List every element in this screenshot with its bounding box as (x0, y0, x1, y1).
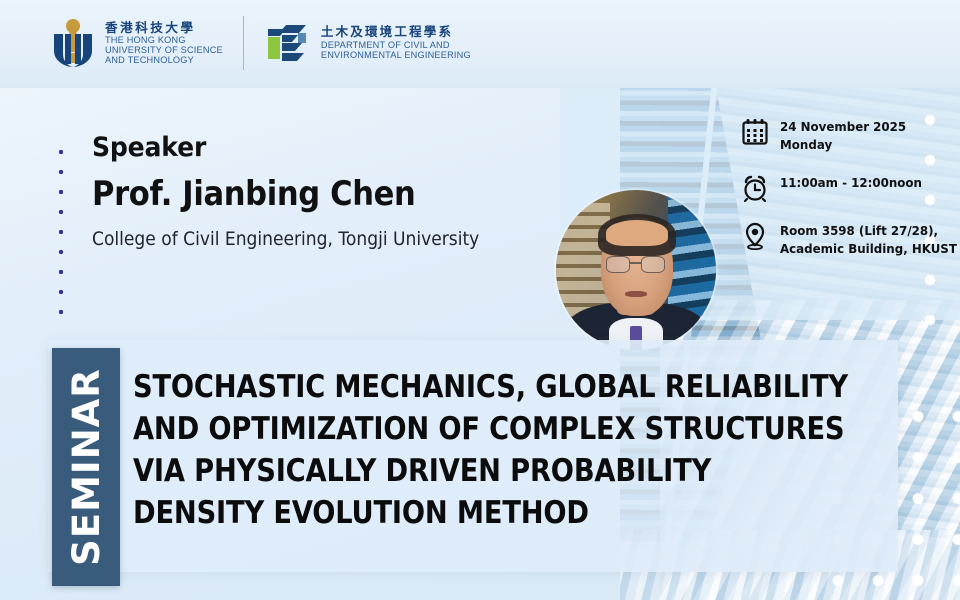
seminar-title: STOCHASTIC MECHANICS, GLOBAL RELIABILITY… (133, 366, 853, 535)
event-room: Room 3598 (Lift 27/28), (780, 222, 957, 240)
cee-wordmark: 土木及環境工程學系 DEPARTMENT OF CIVIL AND ENVIRO… (321, 25, 471, 60)
speaker-block: Speaker Prof. Jianbing Chen College of C… (92, 132, 562, 250)
hkust-crest-icon (52, 17, 94, 69)
title-line-1: STOCHASTIC MECHANICS, GLOBAL RELIABILITY (133, 366, 767, 408)
portrait-mouth (625, 291, 647, 297)
detail-text-time: 11:00am - 12:00noon (780, 174, 922, 192)
title-line-4: DENSITY EVOLUTION METHOD (133, 492, 767, 534)
hkust-name-en-3: AND TECHNOLOGY (105, 55, 223, 65)
cee-name-cn: 土木及環境工程學系 (321, 25, 471, 39)
location-pin-icon (742, 222, 768, 250)
detail-text-date: 24 November 2025 Monday (780, 118, 906, 154)
clock-icon (742, 174, 768, 202)
calendar-icon (742, 118, 768, 146)
detail-row-date: 24 November 2025 Monday (742, 118, 952, 154)
navy-dot-grid (48, 140, 78, 320)
event-details: 24 November 2025 Monday 11:00am - 12:00n… (742, 118, 952, 258)
seminar-poster: 香港科技大學 THE HONG KONG UNIVERSITY OF SCIEN… (0, 0, 960, 600)
portrait-glasses-right (641, 256, 665, 274)
hkust-logo: 香港科技大學 THE HONG KONG UNIVERSITY OF SCIEN… (52, 17, 223, 69)
hkust-name-cn: 香港科技大學 (105, 21, 223, 35)
seminar-tab: SEMINAR (52, 348, 120, 586)
hkust-name-en-2: UNIVERSITY OF SCIENCE (105, 45, 223, 55)
portrait-glasses-left (606, 256, 630, 274)
detail-row-time: 11:00am - 12:00noon (742, 174, 952, 202)
logo-row: 香港科技大學 THE HONG KONG UNIVERSITY OF SCIEN… (52, 16, 471, 70)
speaker-name: Prof. Jianbing Chen (92, 174, 515, 214)
event-date: 24 November 2025 (780, 118, 906, 136)
hkust-name-en-1: THE HONG KONG (105, 35, 223, 45)
cee-emblem-icon (264, 21, 310, 65)
seminar-tab-label: SEMINAR (52, 348, 120, 586)
detail-text-venue: Room 3598 (Lift 27/28), Academic Buildin… (780, 222, 957, 258)
speaker-affiliation: College of Civil Engineering, Tongji Uni… (92, 228, 515, 250)
speaker-label: Speaker (92, 132, 529, 163)
event-time: 11:00am - 12:00noon (780, 174, 922, 192)
title-line-2: AND OPTIMIZATION OF COMPLEX STRUCTURES (133, 408, 767, 450)
event-building: Academic Building, HKUST (780, 240, 957, 258)
cee-name-en-1: DEPARTMENT OF CIVIL AND (321, 40, 471, 50)
detail-row-venue: Room 3598 (Lift 27/28), Academic Buildin… (742, 222, 952, 258)
cee-name-en-2: ENVIRONMENTAL ENGINEERING (321, 50, 471, 60)
event-weekday: Monday (780, 136, 906, 154)
speaker-portrait-photo (556, 190, 716, 350)
portrait-forehead (606, 220, 668, 246)
hkust-wordmark: 香港科技大學 THE HONG KONG UNIVERSITY OF SCIEN… (105, 21, 223, 66)
title-line-3: VIA PHYSICALLY DRIVEN PROBABILITY (133, 450, 767, 492)
cee-logo: 土木及環境工程學系 DEPARTMENT OF CIVIL AND ENVIRO… (264, 21, 471, 65)
logo-divider (243, 16, 244, 70)
portrait-glasses-bridge (630, 262, 641, 264)
